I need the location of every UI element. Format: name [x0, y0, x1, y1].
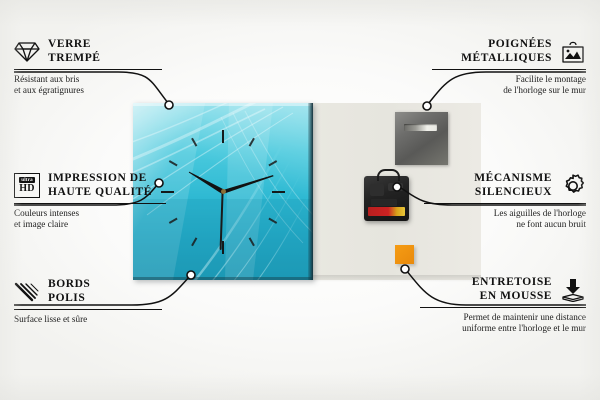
- feature-subtitle: Les aiguilles de l'horloge ne font aucun…: [424, 208, 586, 230]
- feature-title: ENTRETOISE EN MOUSSE: [472, 276, 552, 303]
- hanger-keyhole-slot: [404, 124, 437, 131]
- foam-spacer: [395, 245, 414, 264]
- feature-divider: [432, 69, 586, 70]
- feature-verre-trempe: VERRE TREMPÉ Résistant aux bris et aux é…: [14, 38, 162, 96]
- feature-mecanisme-silencieux: MÉCANISME SILENCIEUX Les aiguilles de l'…: [424, 172, 586, 230]
- mechanism-hanging-loop: [377, 169, 400, 181]
- feature-divider: [14, 69, 162, 70]
- feature-subtitle: Couleurs intenses et image claire: [14, 208, 166, 230]
- foam-spacer-icon: [560, 277, 586, 303]
- feature-subtitle: Permet de maintenir une distance uniform…: [420, 312, 586, 334]
- feature-title: POIGNÉES MÉTALLIQUES: [461, 38, 552, 65]
- feature-title: BORDS POLIS: [48, 278, 90, 305]
- clock-tick: [161, 191, 223, 193]
- glass-right-edge: [308, 103, 313, 280]
- gear-icon: [560, 173, 586, 199]
- feature-divider: [424, 203, 586, 204]
- mechanism-detail: [388, 183, 403, 191]
- feature-bords-polis: BORDS POLIS Surface lisse et sûre: [14, 278, 162, 325]
- infographic-canvas: VERRE TREMPÉ Résistant aux bris et aux é…: [0, 0, 600, 400]
- mechanism-detail: [370, 184, 384, 196]
- polished-edges-icon: [14, 279, 40, 305]
- feature-subtitle: Facilite le montage de l'horloge sur le …: [432, 74, 586, 96]
- ultra-hd-bottom-label: HD: [19, 184, 35, 194]
- feature-title: IMPRESSION DE HAUTE QUALITÉ: [48, 172, 152, 199]
- mechanism-battery: [368, 207, 405, 216]
- feature-divider: [14, 203, 166, 204]
- clock-tick: [222, 130, 224, 192]
- ultra-hd-icon: ultra HD: [14, 173, 40, 199]
- feature-subtitle: Résistant aux bris et aux égratignures: [14, 74, 162, 96]
- clock-mechanism: [364, 176, 409, 221]
- feature-divider: [420, 307, 586, 308]
- feature-poignees-metalliques: POIGNÉES MÉTALLIQUES Facilite le montage…: [432, 38, 586, 96]
- feature-title: MÉCANISME SILENCIEUX: [474, 172, 552, 199]
- feature-entretoise-en-mousse: ENTRETOISE EN MOUSSE Permet de maintenir…: [420, 276, 586, 334]
- feature-title: VERRE TREMPÉ: [48, 38, 101, 65]
- metal-hanger-plate: [395, 112, 448, 165]
- mechanism-detail: [371, 199, 397, 206]
- glass-top-sheen: [133, 103, 313, 106]
- feature-subtitle: Surface lisse et sûre: [14, 314, 162, 325]
- wall-mount-frame-icon: [560, 39, 586, 65]
- diamond-icon: [14, 39, 40, 65]
- feature-divider: [14, 309, 162, 310]
- clock-center-pin: [221, 189, 226, 194]
- feature-impression-haute-qualite: ultra HD IMPRESSION DE HAUTE QUALITÉ Cou…: [14, 172, 166, 230]
